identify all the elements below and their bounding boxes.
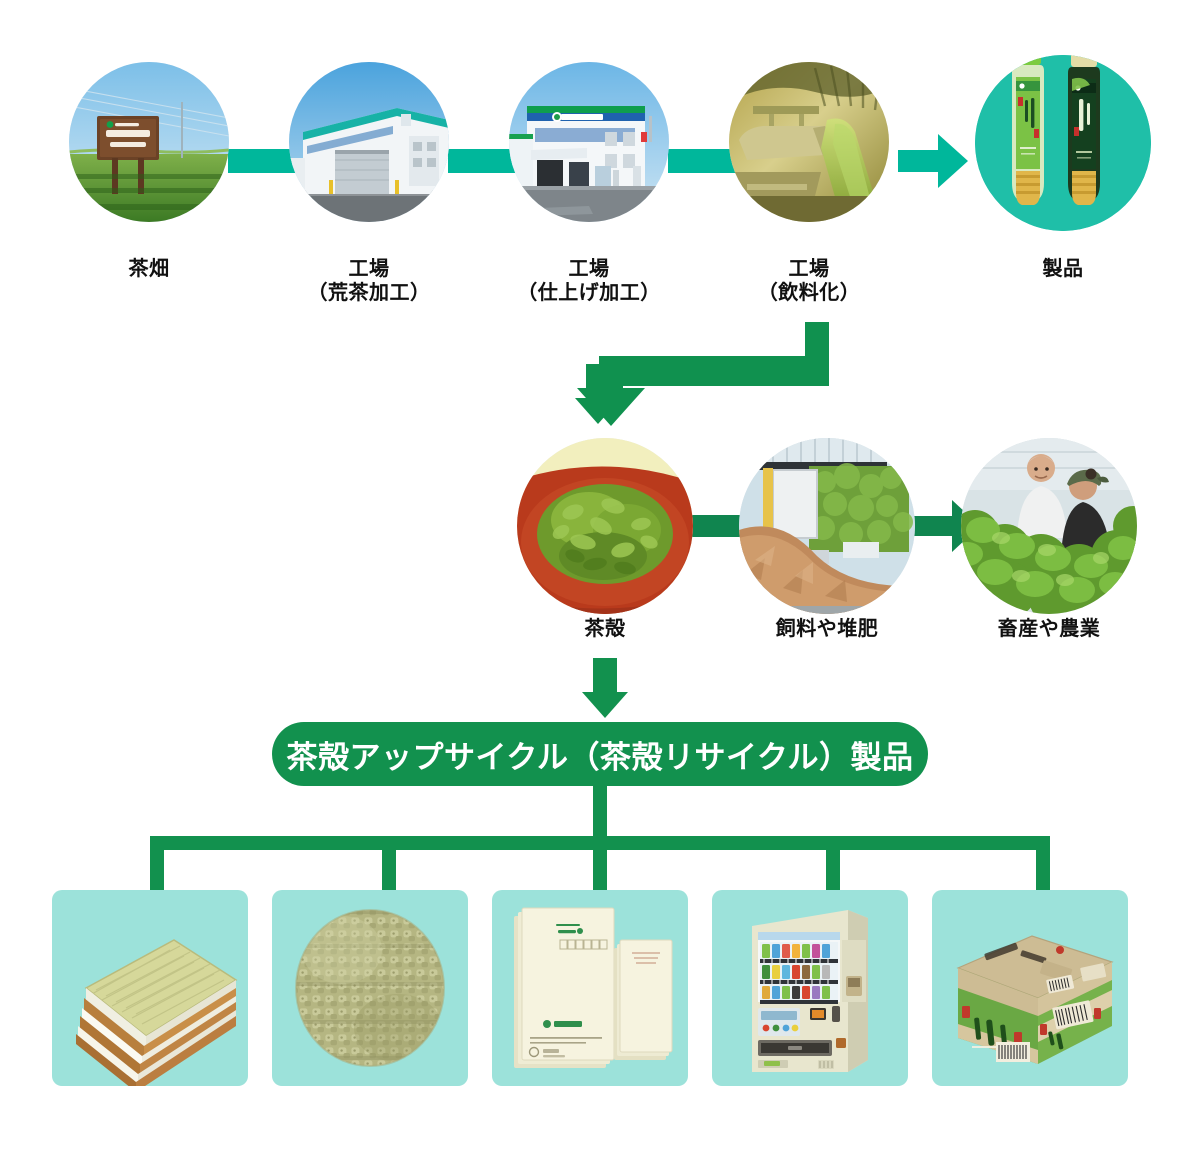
- beverage-line-art: [729, 62, 889, 222]
- compost-pile-art: [739, 438, 915, 614]
- tile-carton[interactable]: [932, 890, 1128, 1086]
- branch-tile-4: [826, 836, 840, 894]
- branch-tile-2: [382, 836, 396, 894]
- elbow-h: [586, 364, 829, 386]
- green-resin-pellets-art: [272, 890, 468, 1086]
- branch-tile-5: [1036, 836, 1050, 894]
- factory-exterior-art: [289, 62, 449, 222]
- tile-resin-pellets[interactable]: [272, 890, 468, 1086]
- product-photo: [975, 55, 1151, 231]
- factory-finish-photo: [509, 62, 669, 222]
- node-product-label: 製品: [983, 257, 1143, 281]
- tea-field-photo: [69, 62, 229, 222]
- vending-machine-art: [712, 890, 908, 1086]
- upcycle-banner: 茶殻アップサイクル（茶殻リサイクル）製品: [272, 722, 928, 786]
- feed-compost-photo: [739, 438, 915, 614]
- tile-envelopes[interactable]: [492, 890, 688, 1086]
- tile-vending-machine[interactable]: [712, 890, 908, 1086]
- itoen-factory-art: [509, 62, 669, 222]
- oi-ocha-carton-art: [932, 890, 1128, 1086]
- node-factory-finish-label: 工場 （仕上げ加工）: [479, 257, 699, 306]
- farmers-in-field-art: [961, 438, 1137, 614]
- arrow-factory3-to-product: [898, 134, 968, 188]
- oi-ocha-bottles-art: [975, 55, 1151, 231]
- elbow-arrowhead: [575, 398, 621, 424]
- branch-tile-3: [593, 836, 607, 894]
- livestock-agri-photo: [961, 438, 1137, 614]
- node-factory-drink-label: 工場 （飲料化）: [699, 257, 919, 306]
- tea-field-sign-art: [69, 62, 229, 222]
- tile-tatami[interactable]: [52, 890, 248, 1086]
- upcycle-banner-text: 茶殻アップサイクル（茶殻リサイクル）製品: [287, 732, 914, 777]
- elbow-v2: [586, 364, 610, 402]
- elbow-v1: [805, 322, 829, 364]
- node-tea-field-label: 茶畑: [69, 257, 229, 281]
- node-livestock-agri-label: 畜産や農業: [959, 617, 1139, 641]
- banner-trunk: [593, 786, 607, 842]
- tea-grounds-photo: [517, 438, 693, 614]
- factory-crude-photo: [289, 62, 449, 222]
- branch-tile-1: [150, 836, 164, 894]
- grounds-to-banner-arrowhead: [582, 692, 628, 718]
- tea-paper-envelopes-art: [492, 890, 688, 1086]
- node-tea-grounds-label: 茶殻: [525, 617, 685, 641]
- node-feed-compost-label: 飼料や堆肥: [737, 617, 917, 641]
- factory-drink-photo: [729, 62, 889, 222]
- used-tea-leaves-art: [517, 438, 693, 614]
- diagram-canvas: 茶畑: [0, 0, 1200, 1151]
- node-factory-crude-label: 工場 （荒茶加工）: [259, 257, 479, 306]
- tatami-mat-art: [52, 890, 248, 1086]
- grounds-to-banner-stem: [593, 658, 617, 694]
